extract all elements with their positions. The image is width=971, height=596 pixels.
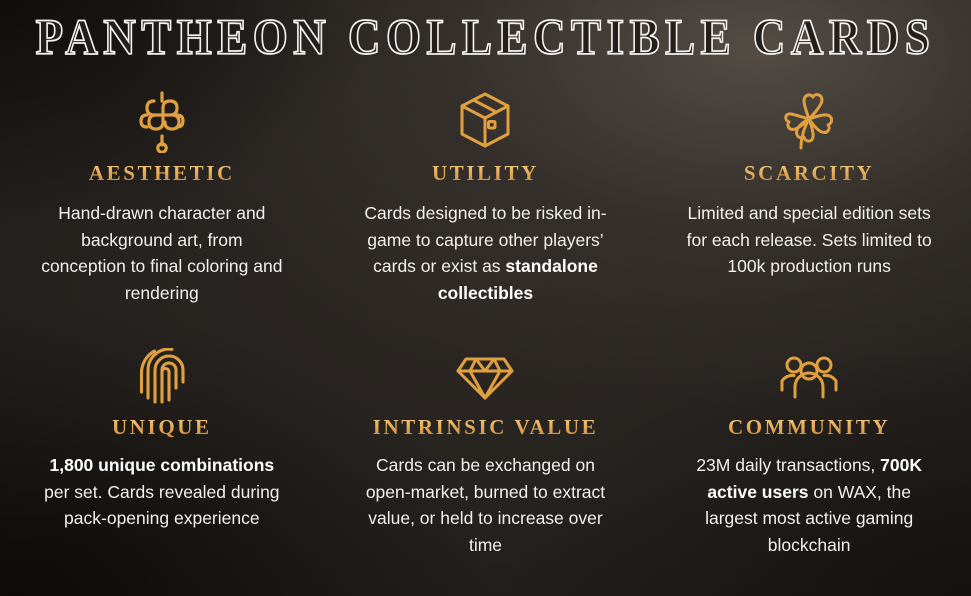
feature-body: Limited and special edition sets for eac… xyxy=(684,200,934,280)
feature-title: COMMUNITY xyxy=(728,414,890,440)
feature-title: AESTHETIC xyxy=(89,160,235,186)
feature-card-intrinsic-value: INTRINSIC VALUE Cards can be exchanged o… xyxy=(324,344,648,594)
people-group-icon xyxy=(778,344,840,410)
feature-body: 1,800 unique combinations per set. Cards… xyxy=(37,452,287,532)
feature-card-community: COMMUNITY 23M daily transactions, 700K a… xyxy=(647,344,971,594)
endless-knot-icon xyxy=(135,84,189,156)
feature-body: Hand-drawn character and background art,… xyxy=(37,200,287,306)
feature-body: Cards designed to be risked in-game to c… xyxy=(360,200,610,306)
feature-card-utility: UTILITY Cards designed to be risked in-g… xyxy=(324,84,648,344)
fingerprint-icon xyxy=(137,344,187,410)
feature-body: Cards can be exchanged on open-market, b… xyxy=(360,452,610,558)
pantheon-collectible-cards-section: PANTHEON COLLECTIBLE CARDS AESTHETIC Han… xyxy=(0,0,971,596)
page-title-container: PANTHEON COLLECTIBLE CARDS xyxy=(0,8,971,60)
page-title: PANTHEON COLLECTIBLE CARDS xyxy=(36,8,936,66)
feature-body: 23M daily transactions, 700K active user… xyxy=(684,452,934,558)
feature-title: UTILITY xyxy=(432,160,539,186)
four-leaf-clover-icon xyxy=(781,84,837,156)
diamond-gem-icon xyxy=(454,344,516,410)
feature-card-scarcity: SCARCITY Limited and special edition set… xyxy=(647,84,971,344)
feature-card-unique: UNIQUE 1,800 unique combinations per set… xyxy=(0,344,324,594)
feature-card-aesthetic: AESTHETIC Hand-drawn character and backg… xyxy=(0,84,324,344)
feature-title: INTRINSIC VALUE xyxy=(373,414,599,440)
features-grid: AESTHETIC Hand-drawn character and backg… xyxy=(0,84,971,594)
package-box-icon xyxy=(457,84,513,156)
feature-title: SCARCITY xyxy=(744,160,875,186)
feature-title: UNIQUE xyxy=(112,414,212,440)
